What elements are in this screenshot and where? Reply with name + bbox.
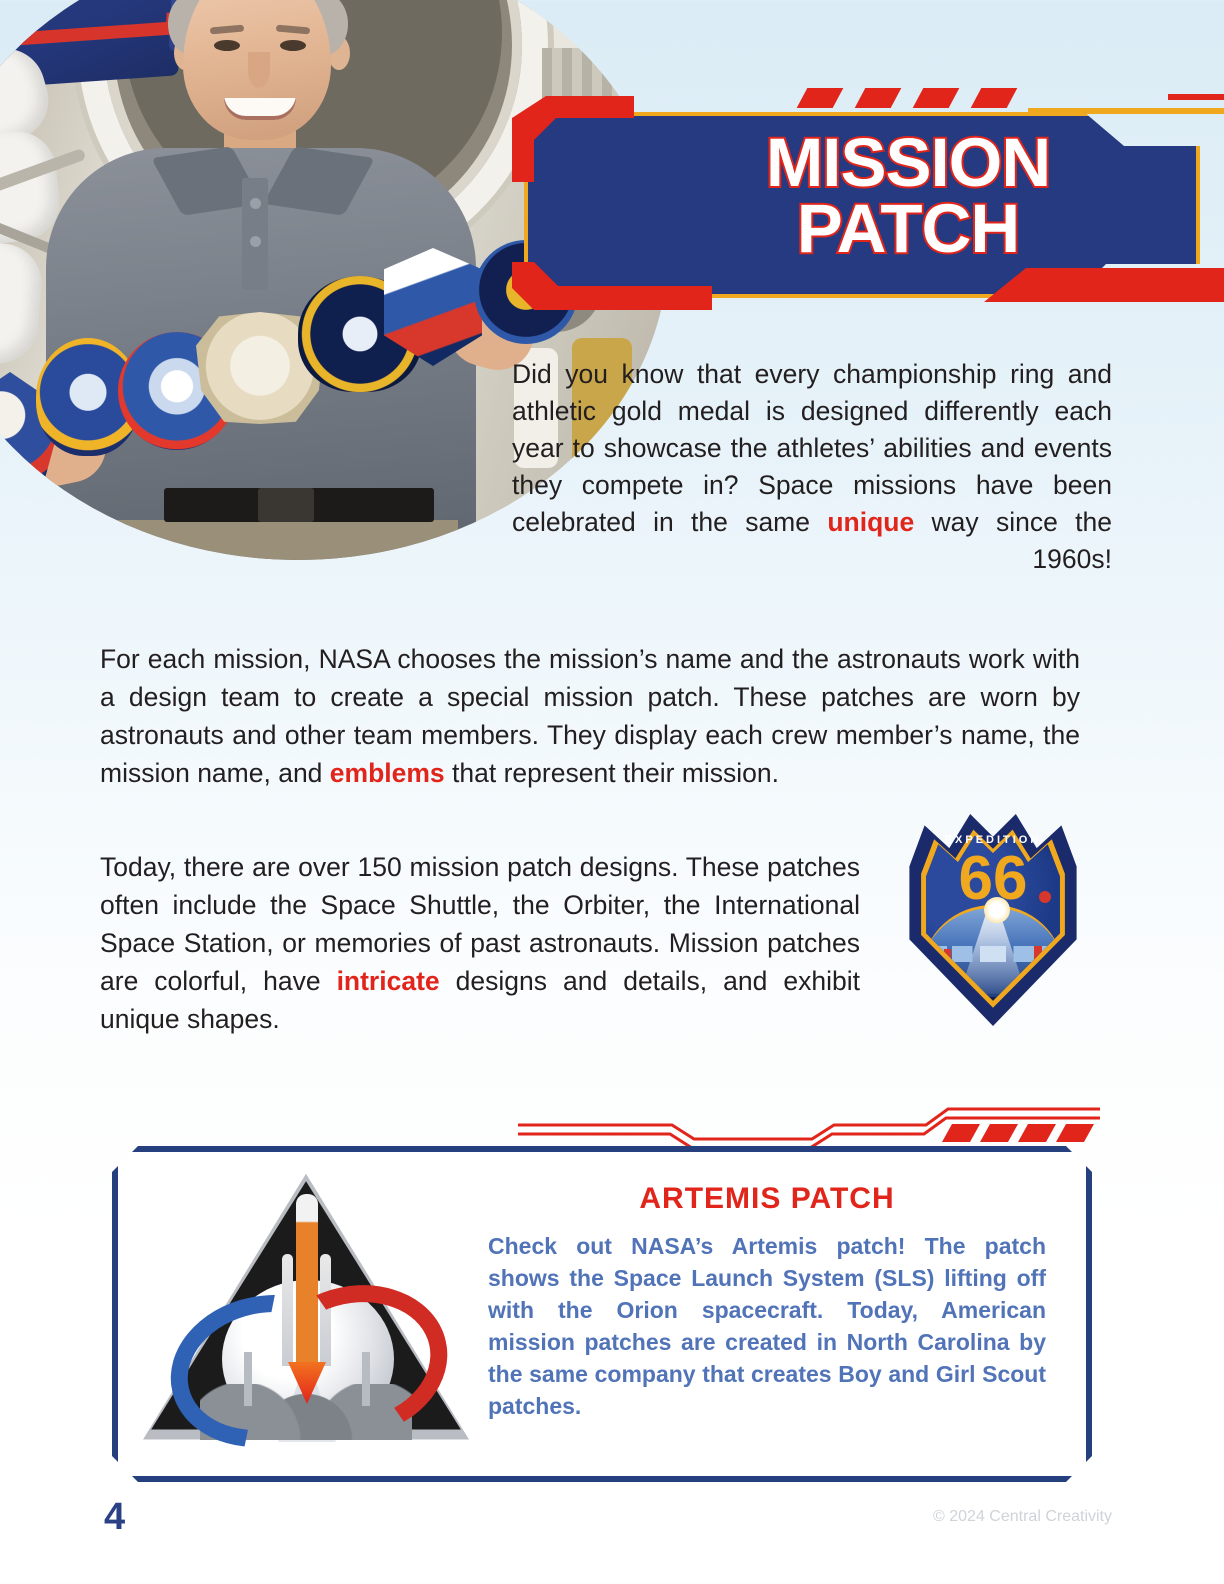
artemis-patch-image-area [118,1152,488,1476]
paragraph2-highlight-emblems: emblems [330,758,445,788]
red-slash-icon-4 [971,88,1018,108]
white-bundle-3 [0,233,45,366]
expedition-66-patch: 66 EXPEDITION [898,798,1088,1026]
shirt-button-1 [250,198,261,209]
page-title-line-1: MISSION [628,130,1188,196]
expedition-patch-number: 66 [898,848,1088,910]
divider-slash-4 [1056,1124,1094,1142]
page-header-banner: MISSION PATCH [508,82,1224,322]
header-red-rule-top [1168,94,1224,100]
astronaut-shirt-placket [242,178,268,290]
red-slash-icon-3 [913,88,960,108]
astronaut-smile [224,98,296,120]
artemis-box-inner: ARTEMIS PATCH Check out NASA’s Artemis p… [118,1152,1086,1476]
sls-rocket-icon [296,1194,318,1364]
astronaut-eye-left [214,40,240,51]
expedition-patch-title: EXPEDITION [898,834,1088,846]
intro-paragraph: Did you know that every championship rin… [512,356,1112,578]
body-paragraph-2: For each mission, NASA chooses the missi… [100,640,1080,792]
artemis-heading: ARTEMIS PATCH [488,1182,1046,1216]
belt-buckle [258,488,314,522]
bag-label [0,0,47,19]
paragraph3-highlight-intricate: intricate [337,966,440,996]
solid-rocket-booster-left [282,1254,293,1366]
astronaut-nose [248,52,270,88]
divider-slashes [942,1124,1094,1142]
page-number: 4 [104,1496,125,1539]
red-slash-icon-1 [797,88,844,108]
divider-slash-3 [1018,1124,1056,1142]
artemis-body-text: Check out NASA’s Artemis patch! The patc… [488,1230,1046,1422]
page-title: MISSION PATCH [628,130,1188,262]
intro-text-after: way since the 1960s! [914,507,1112,574]
header-red-bracket-left-edge [512,138,534,182]
artemis-text-area: ARTEMIS PATCH Check out NASA’s Artemis p… [488,1152,1086,1476]
body-paragraph-3: Today, there are over 150 mission patch … [100,848,860,1038]
astronaut-trousers [118,520,458,560]
divider-slash-1 [942,1124,980,1142]
shirt-button-2 [250,236,261,247]
divider-slash-2 [980,1124,1018,1142]
intro-highlight-unique: unique [827,507,914,537]
artemis-patch-graphic [148,1176,464,1440]
copyright-notice: © 2024 Central Creativity [933,1508,1112,1526]
header-red-bracket-bottom-right [984,268,1224,302]
red-slash-icon-2 [855,88,902,108]
page-title-line-2: PATCH [628,196,1188,262]
paragraph2-text-after: that represent their mission. [445,758,779,788]
artemis-patch-callout-box: ARTEMIS PATCH Check out NASA’s Artemis p… [112,1146,1092,1482]
astronaut-eye-right [280,40,306,51]
